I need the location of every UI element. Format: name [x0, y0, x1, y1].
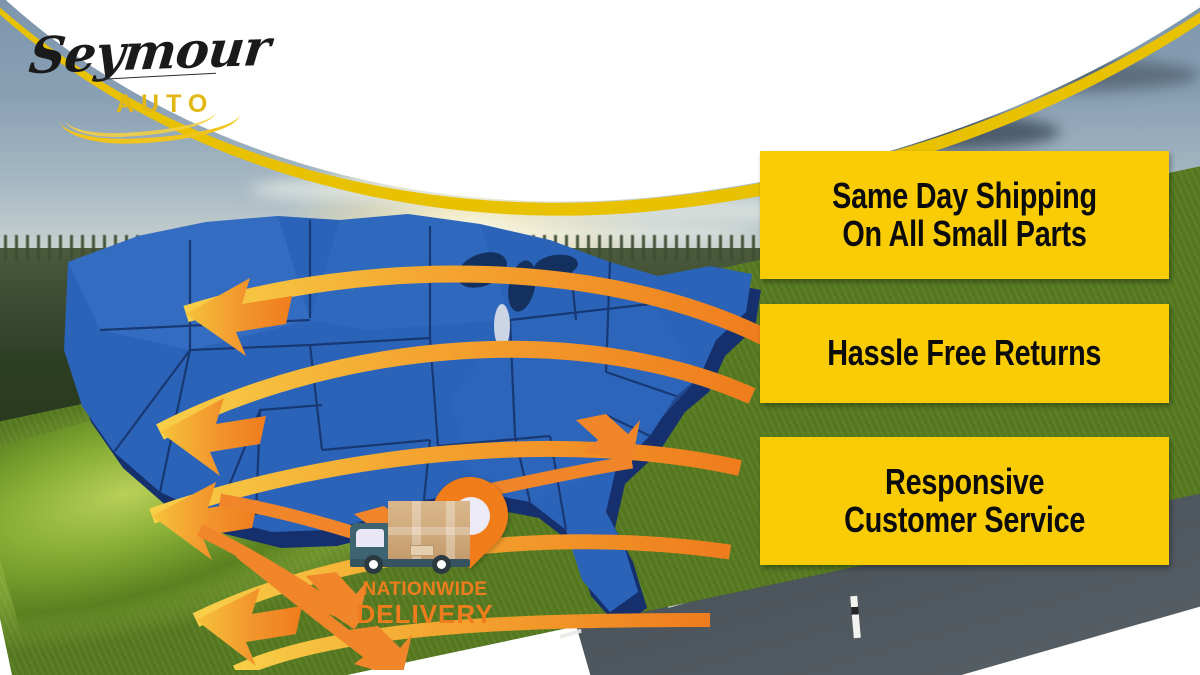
banner-1-line-2: On All Small Parts — [832, 215, 1097, 253]
nationwide-delivery-badge: NATIONWIDE DELIVERY — [340, 475, 510, 650]
seymour-auto-logo[interactable]: Seymour AUTO — [22, 18, 252, 128]
banner-same-day-shipping[interactable]: Same Day Shipping On All Small Parts — [760, 151, 1169, 279]
truck-window — [356, 529, 384, 547]
box-tape-horizontal — [388, 527, 470, 535]
badge-line-2: DELIVERY — [340, 600, 510, 629]
usa-map-graphic: NATIONWIDE DELIVERY — [10, 200, 790, 670]
nationwide-delivery-label: NATIONWIDE DELIVERY — [340, 579, 510, 629]
banner-2-line-1: Hassle Free Returns — [828, 334, 1102, 372]
banner-1-line-1: Same Day Shipping — [832, 177, 1097, 215]
badge-line-1: NATIONWIDE — [340, 579, 510, 600]
banner-3-line-1: Responsive — [844, 463, 1085, 501]
logo-subtitle: AUTO — [116, 90, 214, 119]
logo-brand-name: Seymour — [26, 18, 272, 85]
banner-hassle-free-returns[interactable]: Hassle Free Returns — [760, 304, 1169, 403]
banner-responsive-customer-service[interactable]: Responsive Customer Service — [760, 437, 1169, 565]
truck-wheel — [364, 555, 383, 574]
banner-3-line-2: Customer Service — [844, 501, 1085, 539]
truck-wheel — [432, 555, 451, 574]
promo-banner-graphic: Seymour AUTO — [0, 0, 1200, 675]
box-shipping-label — [410, 545, 434, 556]
delivery-truck-icon — [350, 501, 468, 573]
